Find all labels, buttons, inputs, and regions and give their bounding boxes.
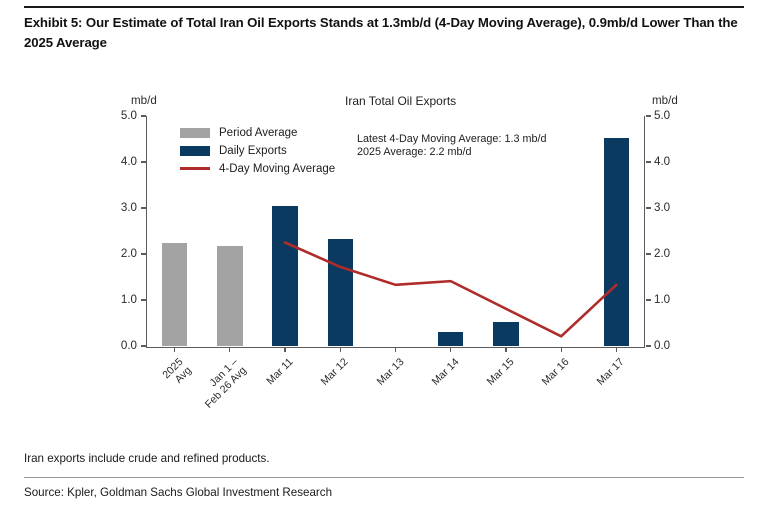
x-tick bbox=[284, 347, 285, 352]
x-tick bbox=[450, 347, 451, 352]
x-tick bbox=[174, 347, 175, 352]
x-tick bbox=[505, 347, 506, 352]
chart-container: mb/d mb/d Iran Total Oil Exports Latest … bbox=[0, 88, 768, 388]
footnote: Iran exports include crude and refined p… bbox=[24, 452, 270, 465]
footer-divider bbox=[24, 477, 744, 478]
x-tick bbox=[616, 347, 617, 352]
x-tick bbox=[340, 347, 341, 352]
source-line: Source: Kpler, Goldman Sachs Global Inve… bbox=[24, 486, 332, 499]
title-top-rule bbox=[24, 6, 744, 8]
x-tick bbox=[229, 347, 230, 352]
moving-average-line-layer bbox=[0, 88, 768, 388]
exhibit-page: Exhibit 5: Our Estimate of Total Iran Oi… bbox=[0, 0, 768, 517]
page-title: Exhibit 5: Our Estimate of Total Iran Oi… bbox=[24, 13, 746, 53]
x-tick bbox=[561, 347, 562, 352]
moving-average-line bbox=[285, 243, 616, 337]
x-tick bbox=[395, 347, 396, 352]
